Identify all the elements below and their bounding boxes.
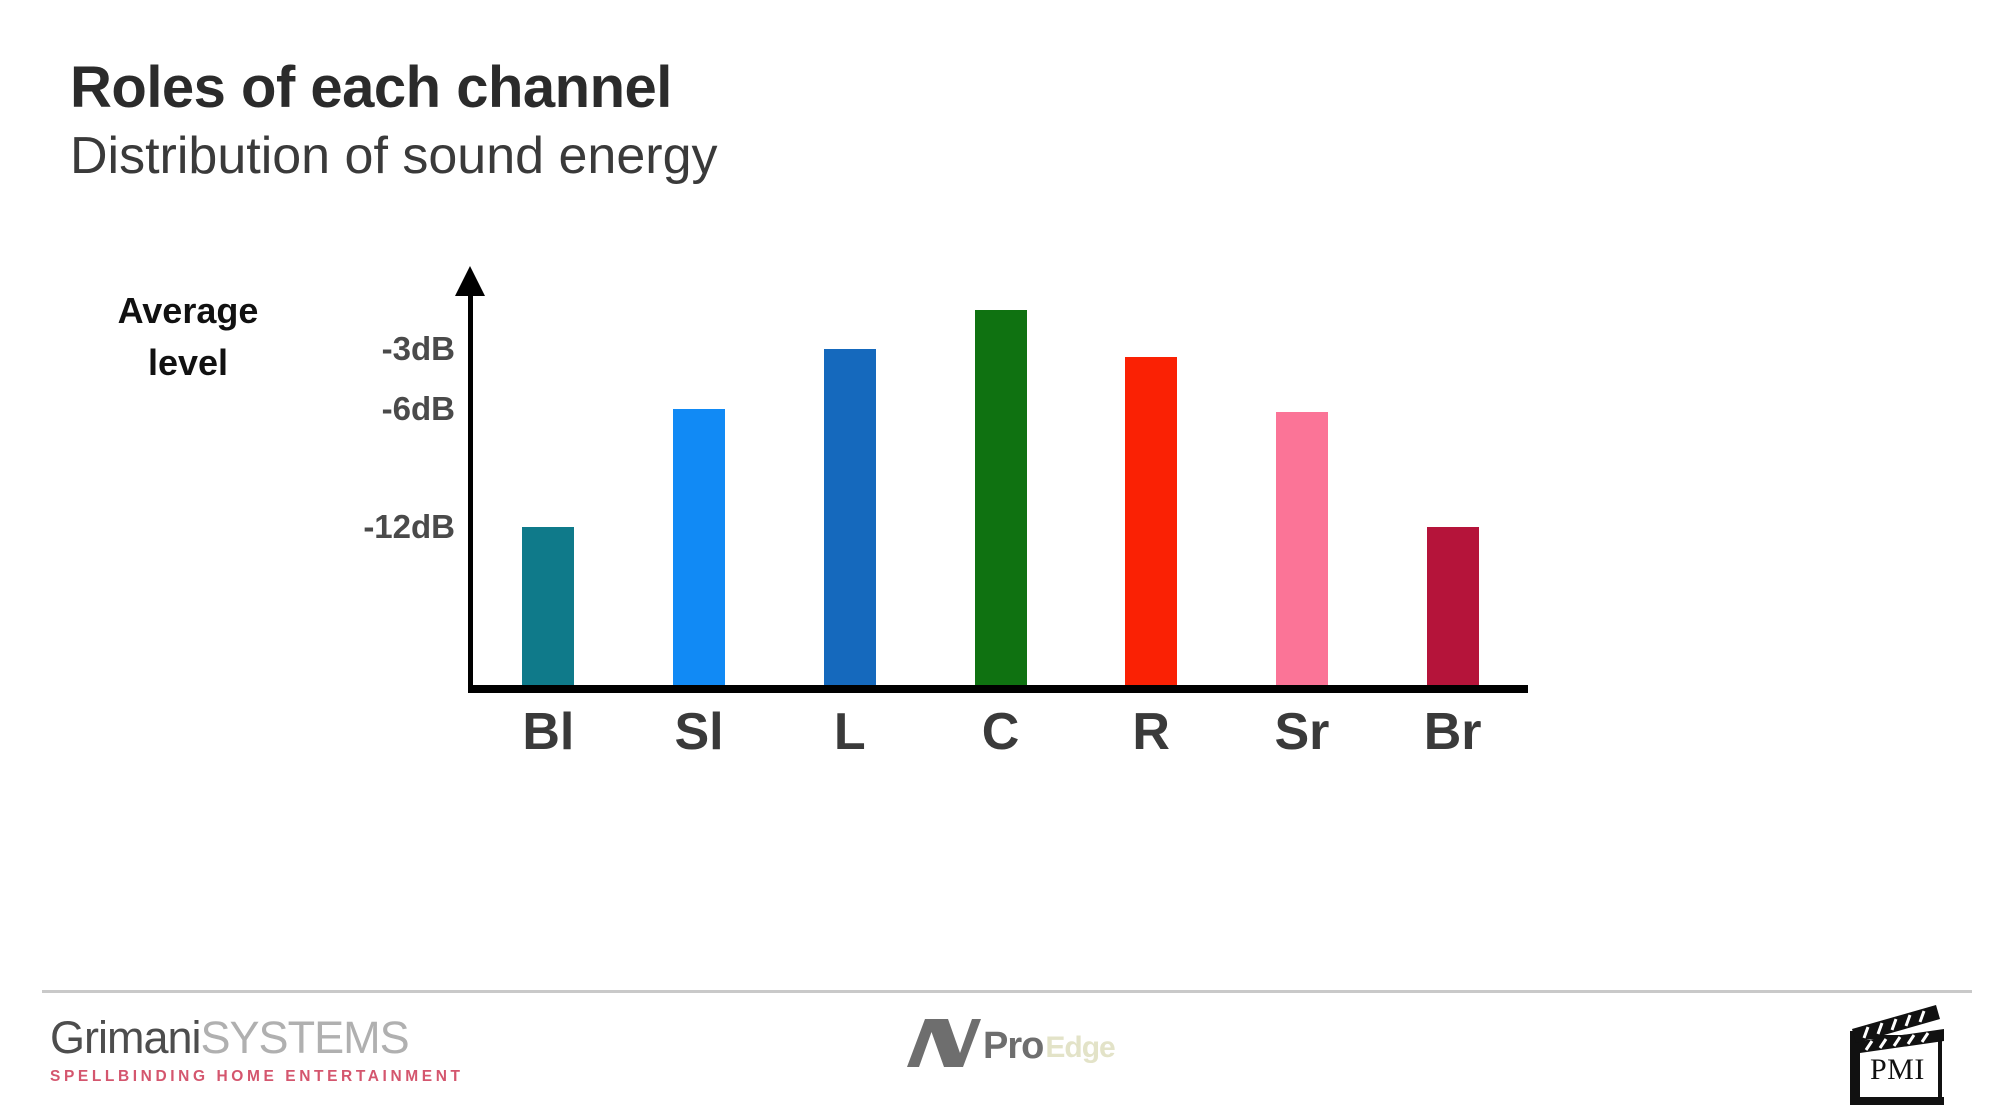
y-tick-label: -6dB	[275, 390, 455, 428]
avpro-av-monogram-icon	[905, 1017, 981, 1067]
x-tick-label-sr: Sr	[1242, 702, 1362, 762]
grimani-wordmark: GrimaniSYSTEMS	[50, 1015, 464, 1060]
x-tick-label-c: C	[941, 702, 1061, 762]
grimani-systems-logo: GrimaniSYSTEMS SPELLBINDING HOME ENTERTA…	[50, 1015, 464, 1086]
bar-sl	[673, 409, 725, 686]
bar-chart: Average level -3dB-6dB-12dB BlSlLCRSrBr	[0, 290, 1700, 910]
presentation-slide: Roles of each channel Distribution of so…	[0, 0, 2000, 1120]
y-tick-label: -12dB	[275, 508, 455, 546]
x-tick-label-sl: Sl	[639, 702, 759, 762]
page-title: Roles of each channel	[70, 58, 718, 119]
title-block: Roles of each channel Distribution of so…	[70, 58, 718, 187]
x-tick-label-br: Br	[1393, 702, 1513, 762]
plot-area	[473, 290, 1528, 685]
bar-br	[1427, 527, 1479, 685]
x-axis-tick-labels: BlSlLCRSrBr	[473, 702, 1528, 782]
pmi-logo: PMI	[1836, 1001, 1966, 1111]
bar-l	[824, 349, 876, 685]
y-tick-label: -3dB	[275, 330, 455, 368]
pmi-logo-text: PMI	[1870, 1053, 1925, 1087]
avpro-pro-text: Pro	[983, 1027, 1043, 1065]
grimani-tagline: SPELLBINDING HOME ENTERTAINMENT	[50, 1068, 464, 1086]
footer: GrimaniSYSTEMS SPELLBINDING HOME ENTERTA…	[0, 995, 2000, 1120]
x-tick-label-l: L	[790, 702, 910, 762]
grimani-wordmark-dark: Grimani	[50, 1012, 201, 1063]
bar-c	[975, 310, 1027, 685]
avpro-logo: Pro Edge	[905, 1017, 1115, 1067]
x-tick-label-r: R	[1091, 702, 1211, 762]
bar-r	[1125, 357, 1177, 685]
bar-sr	[1276, 412, 1328, 685]
page-subtitle: Distribution of sound energy	[70, 127, 718, 187]
x-tick-label-bl: Bl	[488, 702, 608, 762]
avpro-edge-text: Edge	[1045, 1033, 1114, 1063]
footer-divider	[42, 990, 1972, 993]
x-axis-line	[468, 685, 1528, 693]
y-axis-tick-labels: -3dB-6dB-12dB	[265, 290, 455, 690]
bar-bl	[522, 527, 574, 685]
grimani-wordmark-light: SYSTEMS	[201, 1012, 409, 1063]
